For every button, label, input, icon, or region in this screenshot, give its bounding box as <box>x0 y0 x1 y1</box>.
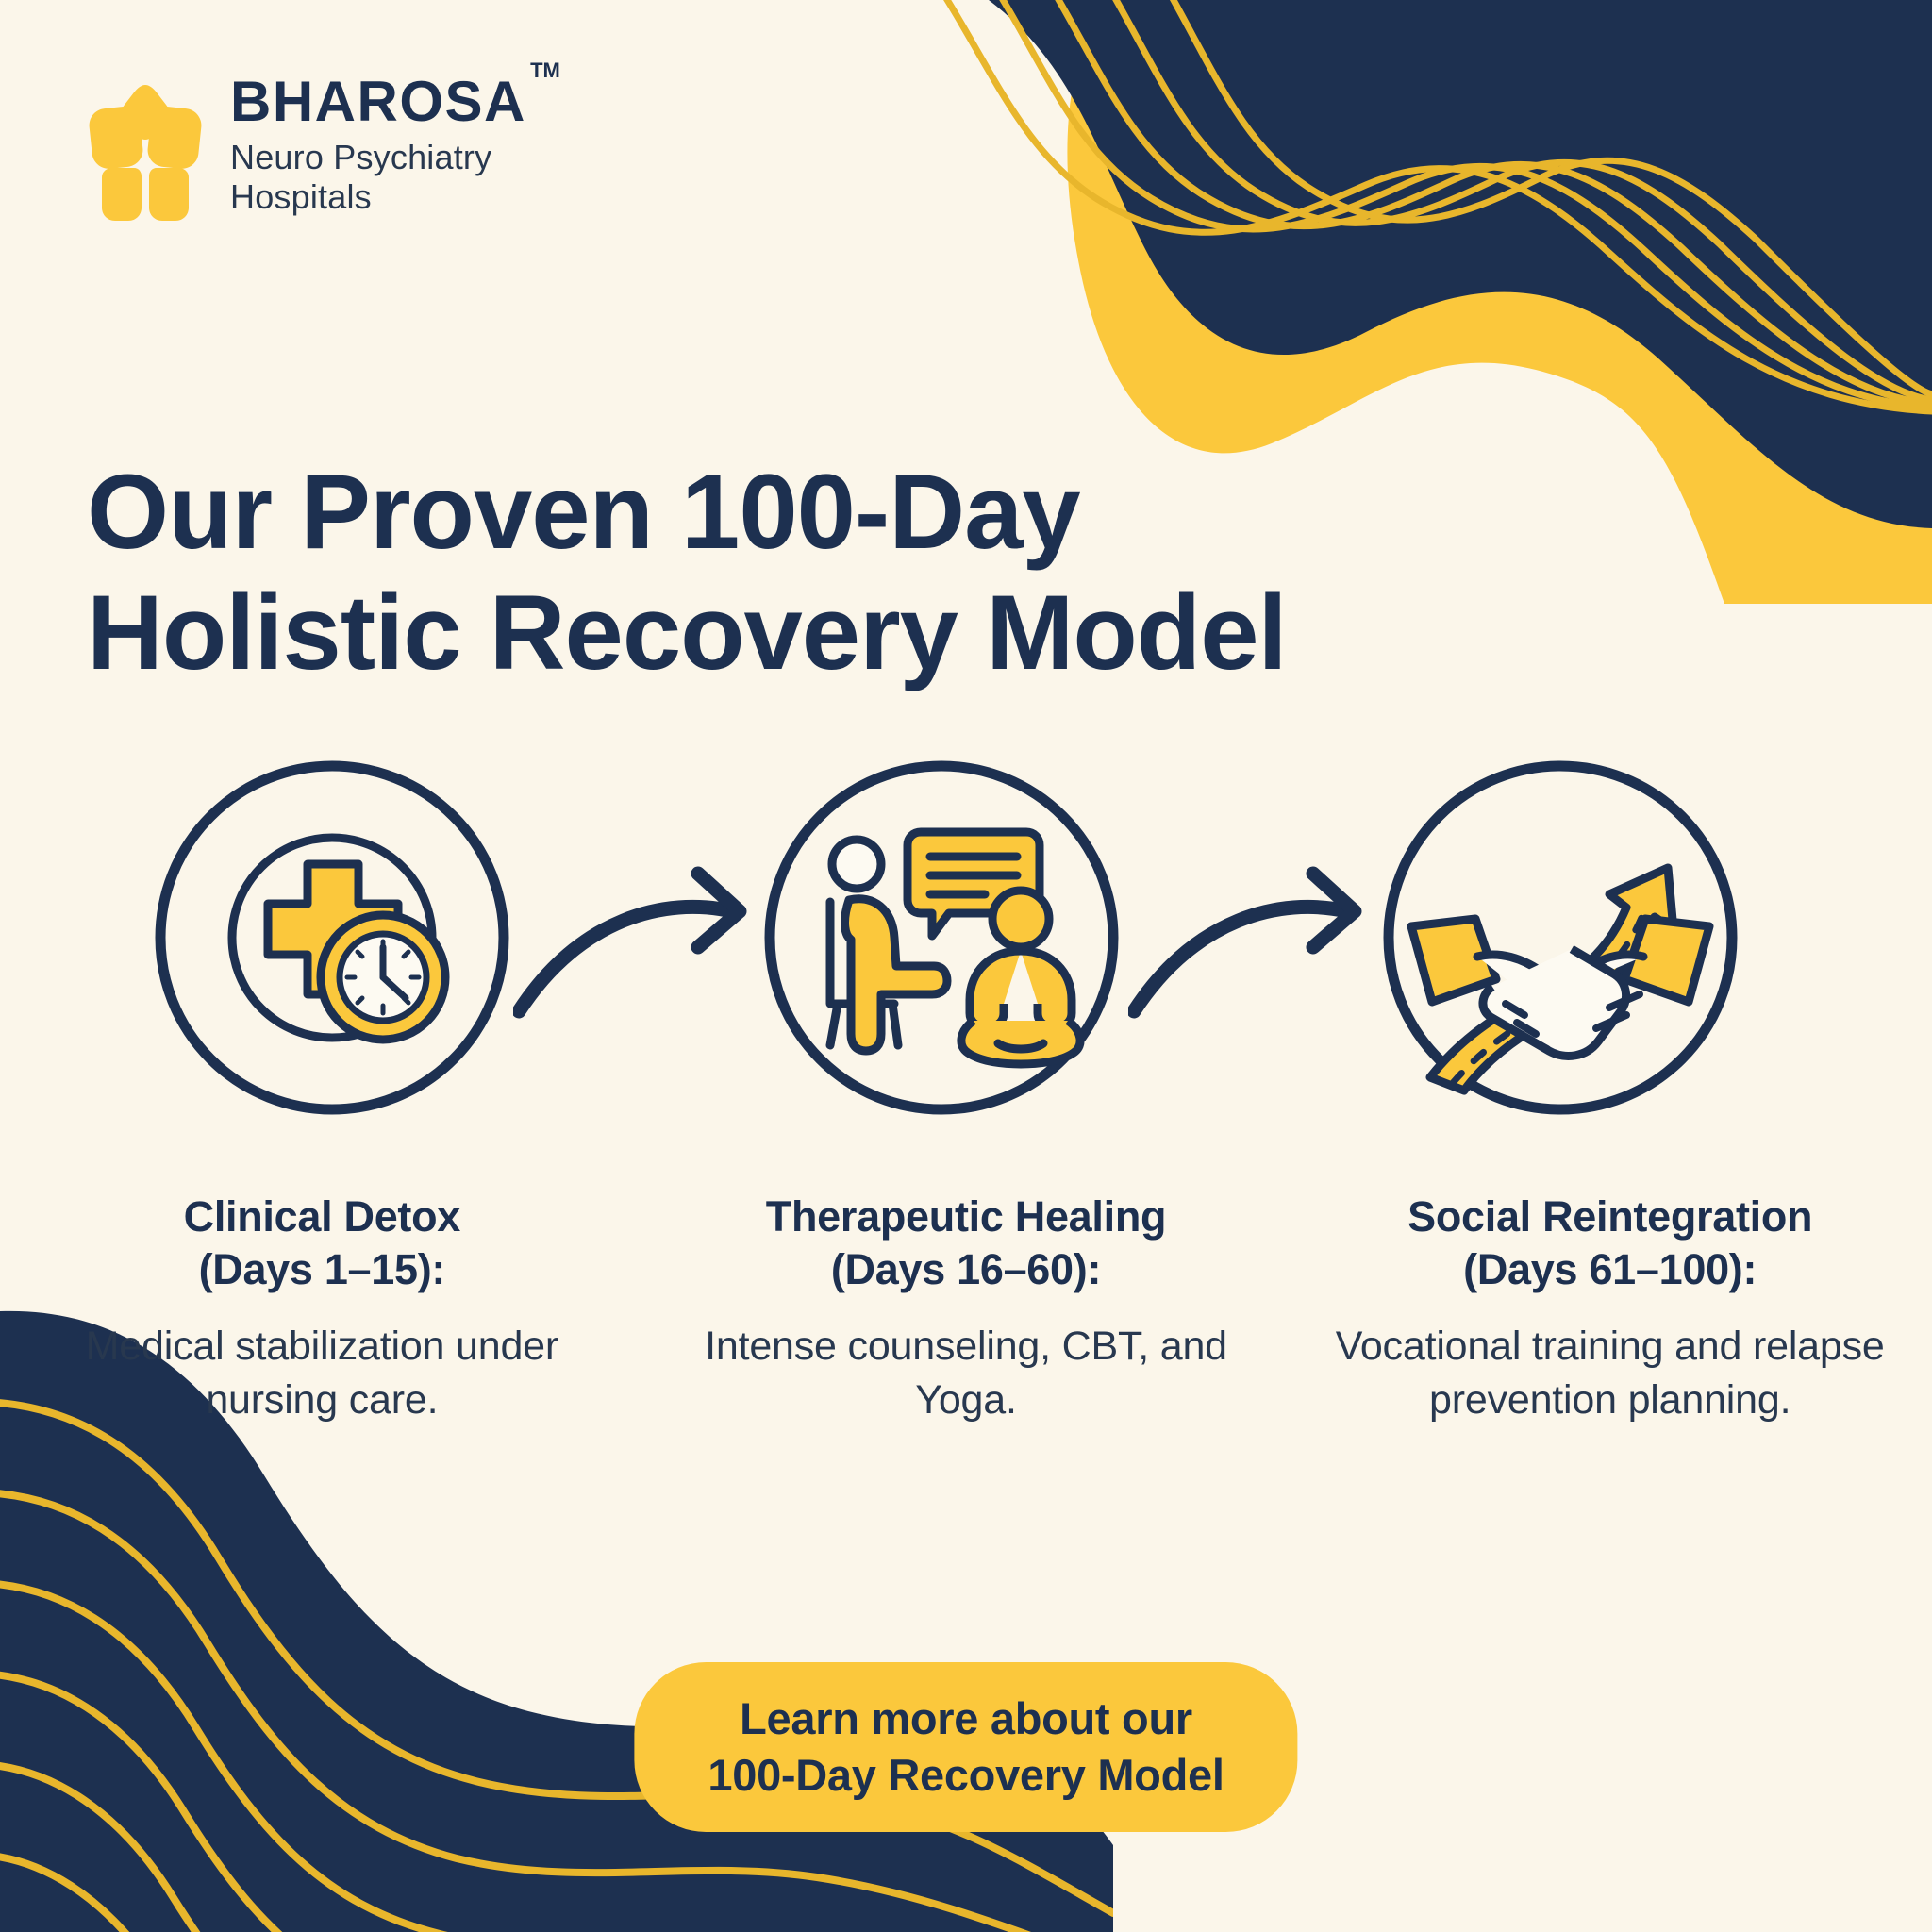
learn-more-button[interactable]: Learn more about our 100-Day Recovery Mo… <box>634 1662 1297 1832</box>
brand-tagline-line1: Neuro Psychiatry <box>230 138 526 177</box>
trademark-symbol: TM <box>530 58 560 83</box>
steps-icon-row <box>0 745 1932 1141</box>
medical-cross-clock-icon <box>145 751 519 1124</box>
handshake-road-arrow-icon <box>1374 751 1747 1124</box>
poster-canvas: BHAROSA TM Neuro Psychiatry Hospitals Ou… <box>0 0 1932 1932</box>
step-title-2-line2: (Days 16–60): <box>831 1245 1101 1293</box>
curved-arrow-right-icon <box>1128 857 1374 1055</box>
curved-arrow-right-icon <box>513 857 758 1055</box>
brand-wordmark: BHAROSA TM Neuro Psychiatry Hospitals <box>230 74 526 218</box>
brand-logo: BHAROSA TM Neuro Psychiatry Hospitals <box>83 74 526 221</box>
brand-name: BHAROSA <box>230 74 526 130</box>
page-title: Our Proven 100-Day Holistic Recovery Mod… <box>87 452 1785 692</box>
headline-line-2: Holistic Recovery Model <box>87 573 1785 693</box>
step-title-1: Clinical Detox (Days 1–15): <box>42 1191 603 1297</box>
step-caption-2: Therapeutic Healing (Days 16–60): Intens… <box>644 1191 1289 1427</box>
step-title-3: Social Reintegration (Days 61–100): <box>1329 1191 1890 1297</box>
step-body-3: Vocational training and relapse preventi… <box>1329 1320 1890 1427</box>
step-body-2: Intense counseling, CBT, and Yoga. <box>686 1320 1247 1427</box>
brand-tagline-line2: Hospitals <box>230 177 526 217</box>
step-captions-row: Clinical Detox (Days 1–15): Medical stab… <box>0 1191 1932 1427</box>
cta-line-2: 100-Day Recovery Model <box>708 1747 1224 1804</box>
step-title-2-line1: Therapeutic Healing <box>766 1192 1166 1241</box>
step-title-1-line2: (Days 1–15): <box>199 1245 446 1293</box>
step-title-3-line2: (Days 61–100): <box>1463 1245 1757 1293</box>
headline-line-1: Our Proven 100-Day <box>87 452 1785 573</box>
cta-line-1: Learn more about our <box>708 1690 1224 1747</box>
step-title-3-line1: Social Reintegration <box>1407 1192 1812 1241</box>
step-title-1-line1: Clinical Detox <box>184 1192 460 1241</box>
butterfly-logo-icon <box>83 79 208 221</box>
step-title-2: Therapeutic Healing (Days 16–60): <box>686 1191 1247 1297</box>
step-caption-3: Social Reintegration (Days 61–100): Voca… <box>1288 1191 1932 1427</box>
step-body-1: Medical stabilization under nursing care… <box>42 1320 603 1427</box>
step-caption-1: Clinical Detox (Days 1–15): Medical stab… <box>0 1191 644 1427</box>
counseling-yoga-icon <box>755 751 1128 1124</box>
